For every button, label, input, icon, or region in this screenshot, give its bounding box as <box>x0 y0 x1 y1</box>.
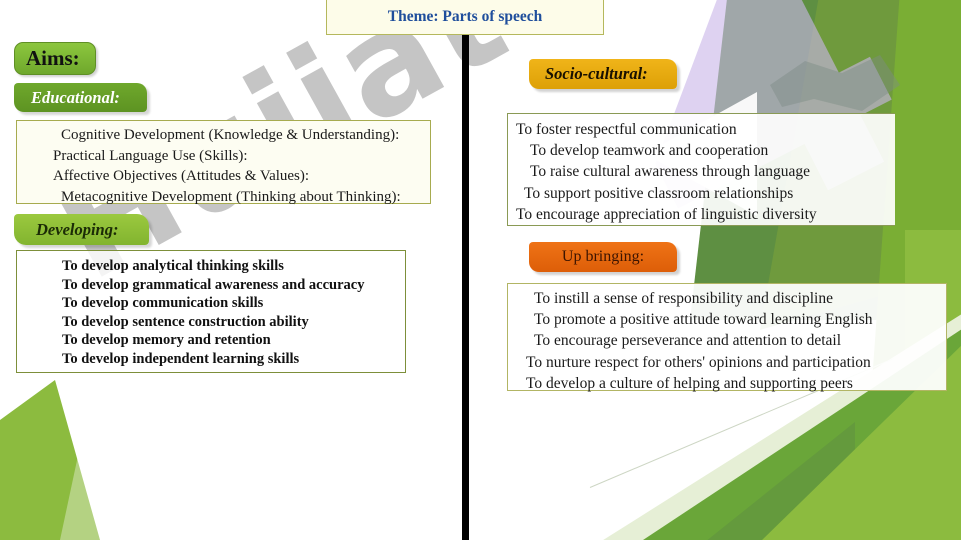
educational-aims-list: Cognitive Development (Knowledge & Under… <box>53 125 430 207</box>
upbringing-label: Up bringing: <box>562 248 644 266</box>
left-white-sliver-shape <box>0 390 110 540</box>
aims-chip: Aims: <box>14 42 96 75</box>
list-item: To foster respectful communication <box>516 119 895 140</box>
developing-chip: Developing: <box>14 214 149 245</box>
list-item: To develop sentence construction ability <box>62 313 405 332</box>
list-item: To develop communication skills <box>62 294 405 313</box>
educational-aims-box: Cognitive Development (Knowledge & Under… <box>16 120 431 204</box>
list-item: To instill a sense of responsibility and… <box>526 288 946 309</box>
bottom-wedge-shadow-shape <box>705 422 855 540</box>
list-item: To develop analytical thinking skills <box>62 257 405 276</box>
grey-blob-shape <box>770 55 900 111</box>
page-title: Theme: Parts of speech <box>388 8 543 26</box>
upbringing-list: To instill a sense of responsibility and… <box>526 288 946 394</box>
list-item: To promote a positive attitude toward le… <box>526 309 946 330</box>
slide-canvas: Hujjat Theme: Parts of speech Aims: Educ… <box>0 0 961 540</box>
theme-title-box: Theme: Parts of speech <box>326 0 604 35</box>
socio-cultural-box: To foster respectful communication To de… <box>507 113 895 226</box>
list-item: Practical Language Use (Skills): <box>53 146 430 167</box>
list-item: To nurture respect for others' opinions … <box>526 352 946 373</box>
list-item: Cognitive Development (Knowledge & Under… <box>53 125 430 146</box>
list-item: To support positive classroom relationsh… <box>516 183 895 204</box>
developing-aims-box: To develop analytical thinking skills To… <box>16 250 406 373</box>
aims-label: Aims: <box>26 46 80 71</box>
list-item: To develop independent learning skills <box>62 350 405 369</box>
developing-label: Developing: <box>36 220 118 240</box>
list-item: To develop grammatical awareness and acc… <box>62 276 405 295</box>
upbringing-box: To instill a sense of responsibility and… <box>507 283 947 391</box>
list-item: To develop teamwork and cooperation <box>516 140 895 161</box>
list-item: To encourage perseverance and attention … <box>526 330 946 351</box>
list-item: To raise cultural awareness through lang… <box>516 161 895 182</box>
green-band-bright-shape <box>860 0 961 540</box>
list-item: To develop a culture of helping and supp… <box>526 373 946 394</box>
center-divider-line <box>462 33 469 540</box>
list-item: Metacognitive Development (Thinking abou… <box>53 187 430 208</box>
socio-cultural-label: Socio-cultural: <box>545 64 648 84</box>
developing-aims-list: To develop analytical thinking skills To… <box>62 257 405 369</box>
list-item: Affective Objectives (Attitudes & Values… <box>53 166 430 187</box>
educational-chip: Educational: <box>14 83 147 112</box>
list-item: To develop memory and retention <box>62 331 405 350</box>
upbringing-chip: Up bringing: <box>529 242 677 272</box>
educational-label: Educational: <box>31 88 120 108</box>
left-green-wedge-shape <box>0 380 115 540</box>
socio-cultural-list: To foster respectful communication To de… <box>516 119 895 225</box>
list-item: To encourage appreciation of linguistic … <box>516 204 895 225</box>
socio-cultural-chip: Socio-cultural: <box>529 59 677 89</box>
